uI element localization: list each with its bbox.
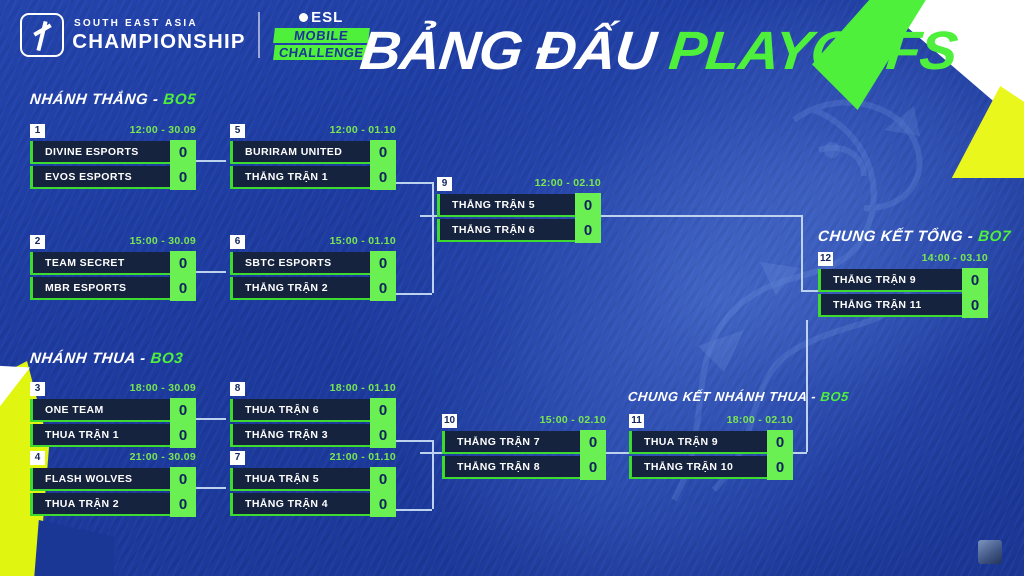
team-row[interactable]: THUA TRẬN 1 0 [30, 424, 196, 447]
connector [196, 271, 226, 273]
team-score: 0 [170, 165, 196, 190]
logo-divider [258, 12, 260, 58]
team-score: 0 [370, 251, 396, 276]
page-title: BẢNG ĐẤU PLAYOFFS [358, 24, 960, 78]
team-score: 0 [370, 398, 396, 423]
team-score: 0 [170, 398, 196, 423]
team-row[interactable]: THẮNG TRẬN 11 0 [818, 294, 988, 317]
match-time: 21:00 - 30.09 [130, 451, 196, 463]
match-card[interactable]: 3 18:00 - 30.09 ONE TEAM 0 THUA TRẬN 1 0 [30, 382, 196, 447]
team-row[interactable]: THUA TRẬN 9 0 [629, 431, 793, 454]
page-title-primary: BẢNG ĐẤU [357, 21, 658, 81]
page-title-accent: PLAYOFFS [666, 21, 959, 81]
team-score: 0 [370, 276, 396, 301]
team-score: 0 [580, 455, 606, 480]
match-card[interactable]: 12 14:00 - 03.10 THẮNG TRẬN 9 0 THẮNG TR… [818, 252, 988, 317]
match-card[interactable]: 8 18:00 - 01.10 THUA TRẬN 6 0 THẮNG TRẬN… [230, 382, 396, 447]
match-number: 1 [30, 124, 45, 138]
esl-globe-icon [299, 13, 308, 22]
connector [420, 452, 442, 454]
team-row[interactable]: THẮNG TRẬN 10 0 [629, 456, 793, 479]
team-score: 0 [170, 423, 196, 448]
team-row[interactable]: THẮNG TRẬN 5 0 [437, 194, 601, 217]
connector [396, 440, 432, 442]
team-score: 0 [767, 455, 793, 480]
team-row[interactable]: THẮNG TRẬN 8 0 [442, 456, 606, 479]
team-row[interactable]: FLASH WOLVES 0 [30, 468, 196, 491]
match-card[interactable]: 7 21:00 - 01.10 THUA TRẬN 5 0 THẮNG TRẬN… [230, 451, 396, 516]
match-number: 4 [30, 451, 45, 465]
round-label-lower-name: NHÁNH THUA [29, 350, 136, 367]
team-row[interactable]: EVOS ESPORTS 0 [30, 166, 196, 189]
team-row[interactable]: THẮNG TRẬN 7 0 [442, 431, 606, 454]
team-row[interactable]: THUA TRẬN 6 0 [230, 399, 396, 422]
match-number: 2 [30, 235, 45, 249]
esl-challenge-text: CHALLENGE [273, 45, 369, 60]
team-score: 0 [767, 430, 793, 455]
round-label-lower-final-name: CHUNG KẾT NHÁNH THUA [627, 389, 808, 404]
match-number: 10 [442, 414, 457, 428]
round-label-upper-format: BO5 [163, 91, 197, 108]
team-row[interactable]: THẮNG TRẬN 2 0 [230, 277, 396, 300]
round-label-grand-final-name: CHUNG KẾT TỔNG [817, 228, 964, 245]
match-time: 15:00 - 01.10 [330, 235, 396, 247]
team-row[interactable]: THẮNG TRẬN 4 0 [230, 493, 396, 516]
esl-mobile-challenge-logo: ESL MOBILE CHALLENGE [274, 10, 369, 60]
match-card[interactable]: 1 12:00 - 30.09 DIVINE ESPORTS 0 EVOS ES… [30, 124, 196, 189]
header-logos: SOUTH EAST ASIA CHAMPIONSHIP ESL MOBILE … [20, 10, 368, 60]
connector [806, 320, 808, 452]
team-score: 0 [370, 140, 396, 165]
round-label-lower-final: CHUNG KẾT NHÁNH THUA - BO5 [627, 389, 850, 404]
team-row[interactable]: BURIRAM UNITED 0 [230, 141, 396, 164]
match-number: 12 [818, 252, 833, 266]
match-time: 12:00 - 01.10 [330, 124, 396, 136]
match-card[interactable]: 11 18:00 - 02.10 THUA TRẬN 9 0 THẮNG TRẬ… [629, 414, 793, 479]
match-number: 11 [629, 414, 644, 428]
team-row[interactable]: THẮNG TRẬN 1 0 [230, 166, 396, 189]
team-row[interactable]: THUA TRẬN 2 0 [30, 493, 196, 516]
team-score: 0 [575, 218, 601, 243]
team-score: 0 [575, 193, 601, 218]
round-label-upper-name: NHÁNH THẮNG [29, 91, 149, 108]
team-row[interactable]: ONE TEAM 0 [30, 399, 196, 422]
match-card[interactable]: 6 15:00 - 01.10 SBTC ESPORTS 0 THẮNG TRẬ… [230, 235, 396, 300]
sea-championship-logo: SOUTH EAST ASIA CHAMPIONSHIP [20, 13, 244, 57]
connector [601, 215, 801, 217]
match-number: 6 [230, 235, 245, 249]
connector [396, 182, 432, 184]
match-number: 8 [230, 382, 245, 396]
connector [196, 487, 226, 489]
match-time: 12:00 - 02.10 [535, 177, 601, 189]
team-row[interactable]: THẮNG TRẬN 6 0 [437, 219, 601, 242]
match-time: 18:00 - 01.10 [330, 382, 396, 394]
connector [196, 160, 226, 162]
team-score: 0 [962, 268, 988, 293]
round-label-lower: NHÁNH THUA - BO3 [29, 350, 184, 367]
match-card[interactable]: 10 15:00 - 02.10 THẮNG TRẬN 7 0 THẮNG TR… [442, 414, 606, 479]
match-card[interactable]: 9 12:00 - 02.10 THẮNG TRẬN 5 0 THẮNG TRẬ… [437, 177, 601, 242]
team-score: 0 [170, 140, 196, 165]
esl-mobile-text: MOBILE [273, 28, 369, 43]
match-number: 3 [30, 382, 45, 396]
match-number: 7 [230, 451, 245, 465]
match-time: 14:00 - 03.10 [922, 252, 988, 264]
team-score: 0 [370, 423, 396, 448]
round-label-lower-format: BO3 [150, 350, 184, 367]
match-time: 18:00 - 30.09 [130, 382, 196, 394]
sea-logo-bottom-text: CHAMPIONSHIP [72, 32, 245, 52]
match-time: 15:00 - 02.10 [540, 414, 606, 426]
round-label-grand-final-format: BO7 [977, 228, 1011, 245]
connector [196, 418, 226, 420]
trophy-icon [20, 13, 64, 57]
match-time: 18:00 - 02.10 [727, 414, 793, 426]
connector [432, 182, 434, 293]
team-row[interactable]: THUA TRẬN 5 0 [230, 468, 396, 491]
team-row[interactable]: SBTC ESPORTS 0 [230, 252, 396, 275]
match-card[interactable]: 2 15:00 - 30.09 TEAM SECRET 0 MBR ESPORT… [30, 235, 196, 300]
team-score: 0 [170, 492, 196, 517]
match-card[interactable]: 4 21:00 - 30.09 FLASH WOLVES 0 THUA TRẬN… [30, 451, 196, 516]
match-time: 21:00 - 01.10 [330, 451, 396, 463]
match-time: 15:00 - 30.09 [130, 235, 196, 247]
team-score: 0 [170, 276, 196, 301]
team-row[interactable]: MBR ESPORTS 0 [30, 277, 196, 300]
team-row[interactable]: DIVINE ESPORTS 0 [30, 141, 196, 164]
team-score: 0 [170, 251, 196, 276]
team-row[interactable]: THẮNG TRẬN 9 0 [818, 269, 988, 292]
team-score: 0 [370, 165, 396, 190]
match-number: 5 [230, 124, 245, 138]
round-label-upper: NHÁNH THẮNG - BO5 [29, 91, 197, 108]
team-score: 0 [580, 430, 606, 455]
team-score: 0 [370, 467, 396, 492]
connector [432, 440, 434, 509]
team-score: 0 [962, 293, 988, 318]
esl-logo-text: ESL [311, 10, 343, 25]
match-card[interactable]: 5 12:00 - 01.10 BURIRAM UNITED 0 THẮNG T… [230, 124, 396, 189]
team-row[interactable]: TEAM SECRET 0 [30, 252, 196, 275]
connector [396, 509, 432, 511]
bracket-screen: SOUTH EAST ASIA CHAMPIONSHIP ESL MOBILE … [0, 0, 1024, 576]
team-score: 0 [170, 467, 196, 492]
connector [396, 293, 432, 295]
round-label-lower-final-format: BO5 [820, 389, 850, 404]
round-label-grand-final: CHUNG KẾT TỔNG - BO7 [817, 228, 1012, 245]
team-row[interactable]: THẮNG TRẬN 3 0 [230, 424, 396, 447]
team-score: 0 [370, 492, 396, 517]
match-number: 9 [437, 177, 452, 191]
connector [793, 452, 807, 454]
sea-logo-top-text: SOUTH EAST ASIA [74, 19, 244, 29]
connector [606, 452, 630, 454]
channel-watermark [978, 540, 1002, 564]
connector [801, 215, 803, 290]
match-time: 12:00 - 30.09 [130, 124, 196, 136]
